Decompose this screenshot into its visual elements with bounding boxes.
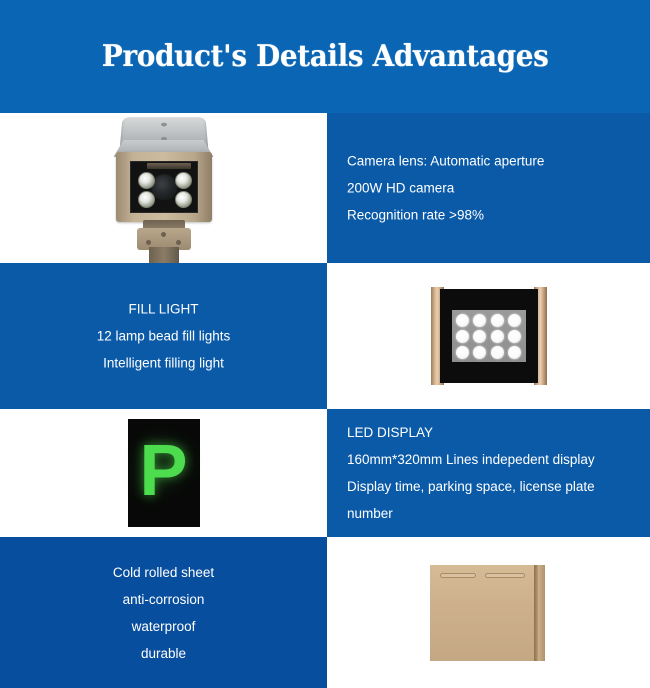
product-details-infographic: Product's Details Advantages: [0, 0, 650, 688]
sheet-folded-edge: [538, 565, 545, 661]
housing-material-line: anti-corrosion: [0, 586, 327, 613]
led-parking-sign-photo: P: [128, 419, 200, 527]
lamp-bead-icon: [491, 346, 504, 359]
lamp-bead-icon: [473, 314, 486, 327]
led-display-image-stage: P: [0, 409, 327, 537]
lamp-bead-icon: [456, 314, 469, 327]
camera-text-panel: Camera lens: Automatic aperture 200W HD …: [327, 113, 650, 263]
camera-housing: [116, 152, 212, 222]
fill-light-text-panel: FILL LIGHT 12 lamp bead fill lights Inte…: [0, 263, 327, 409]
led-display-heading: LED DISPLAY: [347, 419, 595, 446]
camera-glass-bar: [147, 163, 191, 169]
cold-rolled-sheet-photo: [430, 565, 548, 661]
camera-ir-led-icon: [175, 172, 192, 189]
housing-material-image-panel: [327, 537, 650, 688]
feature-row-led-display: P LED DISPLAY 160mm*320mm Lines indepede…: [0, 409, 650, 537]
camera-ir-led-icon: [138, 172, 155, 189]
lamp-bead-icon: [508, 346, 521, 359]
led-display-image-panel: P: [0, 409, 327, 537]
fill-light-spec-line: 12 lamp bead fill lights: [0, 323, 327, 350]
parking-letter-glyph: P: [139, 435, 187, 507]
mount-bolt-icon: [161, 232, 166, 237]
fill-light-module-photo: [423, 287, 555, 385]
sheet-panel-face: [430, 565, 534, 661]
led-display-text-panel: LED DISPLAY 160mm*320mm Lines indepedent…: [327, 409, 650, 537]
camera-spec-line: Recognition rate >98%: [347, 202, 544, 229]
housing-material-line: durable: [0, 640, 327, 667]
camera-pole: [149, 247, 179, 263]
camera-image-panel: [0, 113, 327, 263]
housing-material-image-stage: [327, 537, 650, 688]
lamp-bead-icon: [473, 330, 486, 343]
fill-light-spec-list: FILL LIGHT 12 lamp bead fill lights Inte…: [0, 296, 327, 377]
led-display-spec-line: Display time, parking space, license pla…: [347, 473, 595, 500]
page-title: Product's Details Advantages: [102, 39, 549, 74]
lamp-bead-icon: [508, 330, 521, 343]
fill-light-image-panel: [327, 263, 650, 409]
feature-row-fill-light: FILL LIGHT 12 lamp bead fill lights Inte…: [0, 263, 650, 409]
sheet-vent-slot: [485, 573, 525, 578]
surveillance-camera-photo: [105, 114, 223, 262]
camera-ir-led-icon: [175, 191, 192, 208]
fill-light-heading: FILL LIGHT: [0, 296, 327, 323]
lamp-bead-icon: [508, 314, 521, 327]
led-display-spec-list: LED DISPLAY 160mm*320mm Lines indepedent…: [347, 419, 595, 527]
feature-row-housing-material: Cold rolled sheet anti-corrosion waterpr…: [0, 537, 650, 688]
camera-spec-list: Camera lens: Automatic aperture 200W HD …: [347, 148, 544, 229]
header-banner: Product's Details Advantages: [0, 0, 650, 113]
housing-material-spec-list: Cold rolled sheet anti-corrosion waterpr…: [0, 559, 327, 667]
camera-front-face: [130, 161, 198, 213]
led-display-spec-line: 160mm*320mm Lines indepedent display: [347, 446, 595, 473]
sunshield-screw-icon: [161, 123, 167, 127]
camera-spec-line: Camera lens: Automatic aperture: [347, 148, 544, 175]
lamp-bead-icon: [491, 314, 504, 327]
lamp-bead-icon: [473, 346, 486, 359]
camera-image-stage: [0, 113, 327, 263]
fill-light-image-stage: [327, 263, 650, 409]
housing-material-line: Cold rolled sheet: [0, 559, 327, 586]
camera-spec-line: 200W HD camera: [347, 175, 544, 202]
sheet-vent-slot: [440, 573, 476, 578]
lamp-bead-icon: [456, 330, 469, 343]
fill-light-bead-grid: [452, 310, 526, 362]
led-display-spec-line: number: [347, 500, 595, 527]
camera-lens-icon: [152, 175, 176, 199]
lamp-bead-icon: [491, 330, 504, 343]
mount-bolt-icon: [146, 240, 151, 245]
fill-light-spec-line: Intelligent filling light: [0, 350, 327, 377]
mount-bolt-icon: [176, 240, 181, 245]
housing-material-line: waterproof: [0, 613, 327, 640]
fill-light-bezel: [440, 289, 538, 383]
feature-row-camera: Camera lens: Automatic aperture 200W HD …: [0, 113, 650, 263]
camera-ir-led-icon: [138, 191, 155, 208]
housing-material-text-panel: Cold rolled sheet anti-corrosion waterpr…: [0, 537, 327, 688]
lamp-bead-icon: [456, 346, 469, 359]
